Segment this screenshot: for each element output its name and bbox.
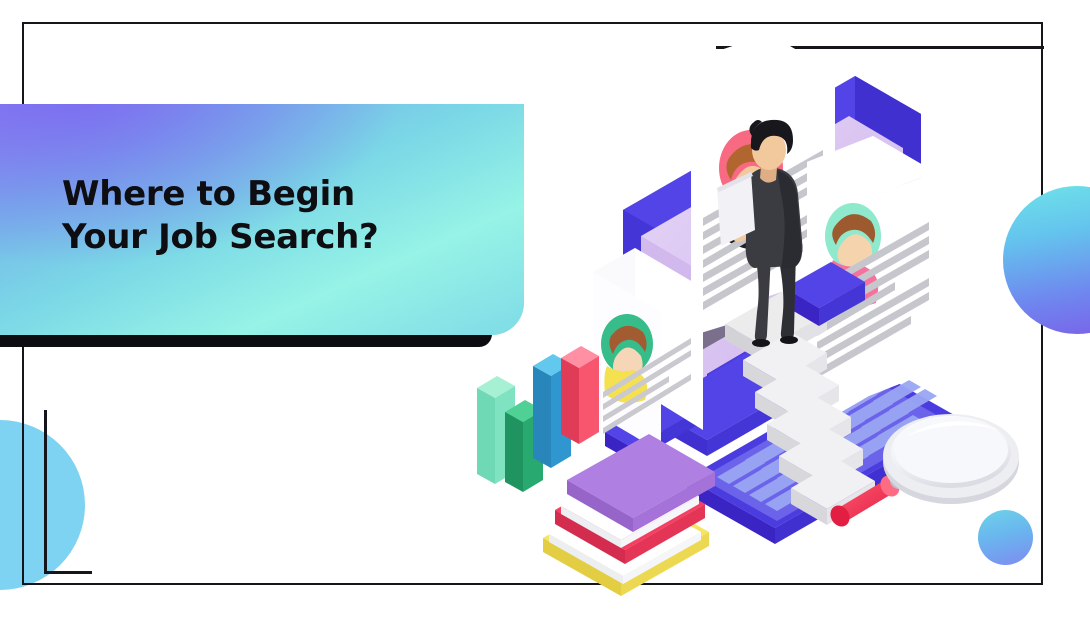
isometric-bar-chart (477, 346, 599, 492)
book-stack (543, 434, 715, 596)
decor-circle-right-small (978, 510, 1033, 565)
accent-rule-bottom-left-horizontal (44, 571, 92, 574)
decor-circle-left-large (0, 420, 85, 590)
isometric-job-search-illustration (455, 40, 1055, 600)
page-title: Where to Begin Your Job Search? (0, 173, 378, 267)
banner-canvas: Where to Begin Your Job Search? (0, 0, 1090, 622)
headline-banner-shadow (0, 334, 492, 347)
accent-rule-bottom-left-vertical (44, 410, 47, 574)
headline-banner: Where to Begin Your Job Search? (0, 104, 524, 335)
